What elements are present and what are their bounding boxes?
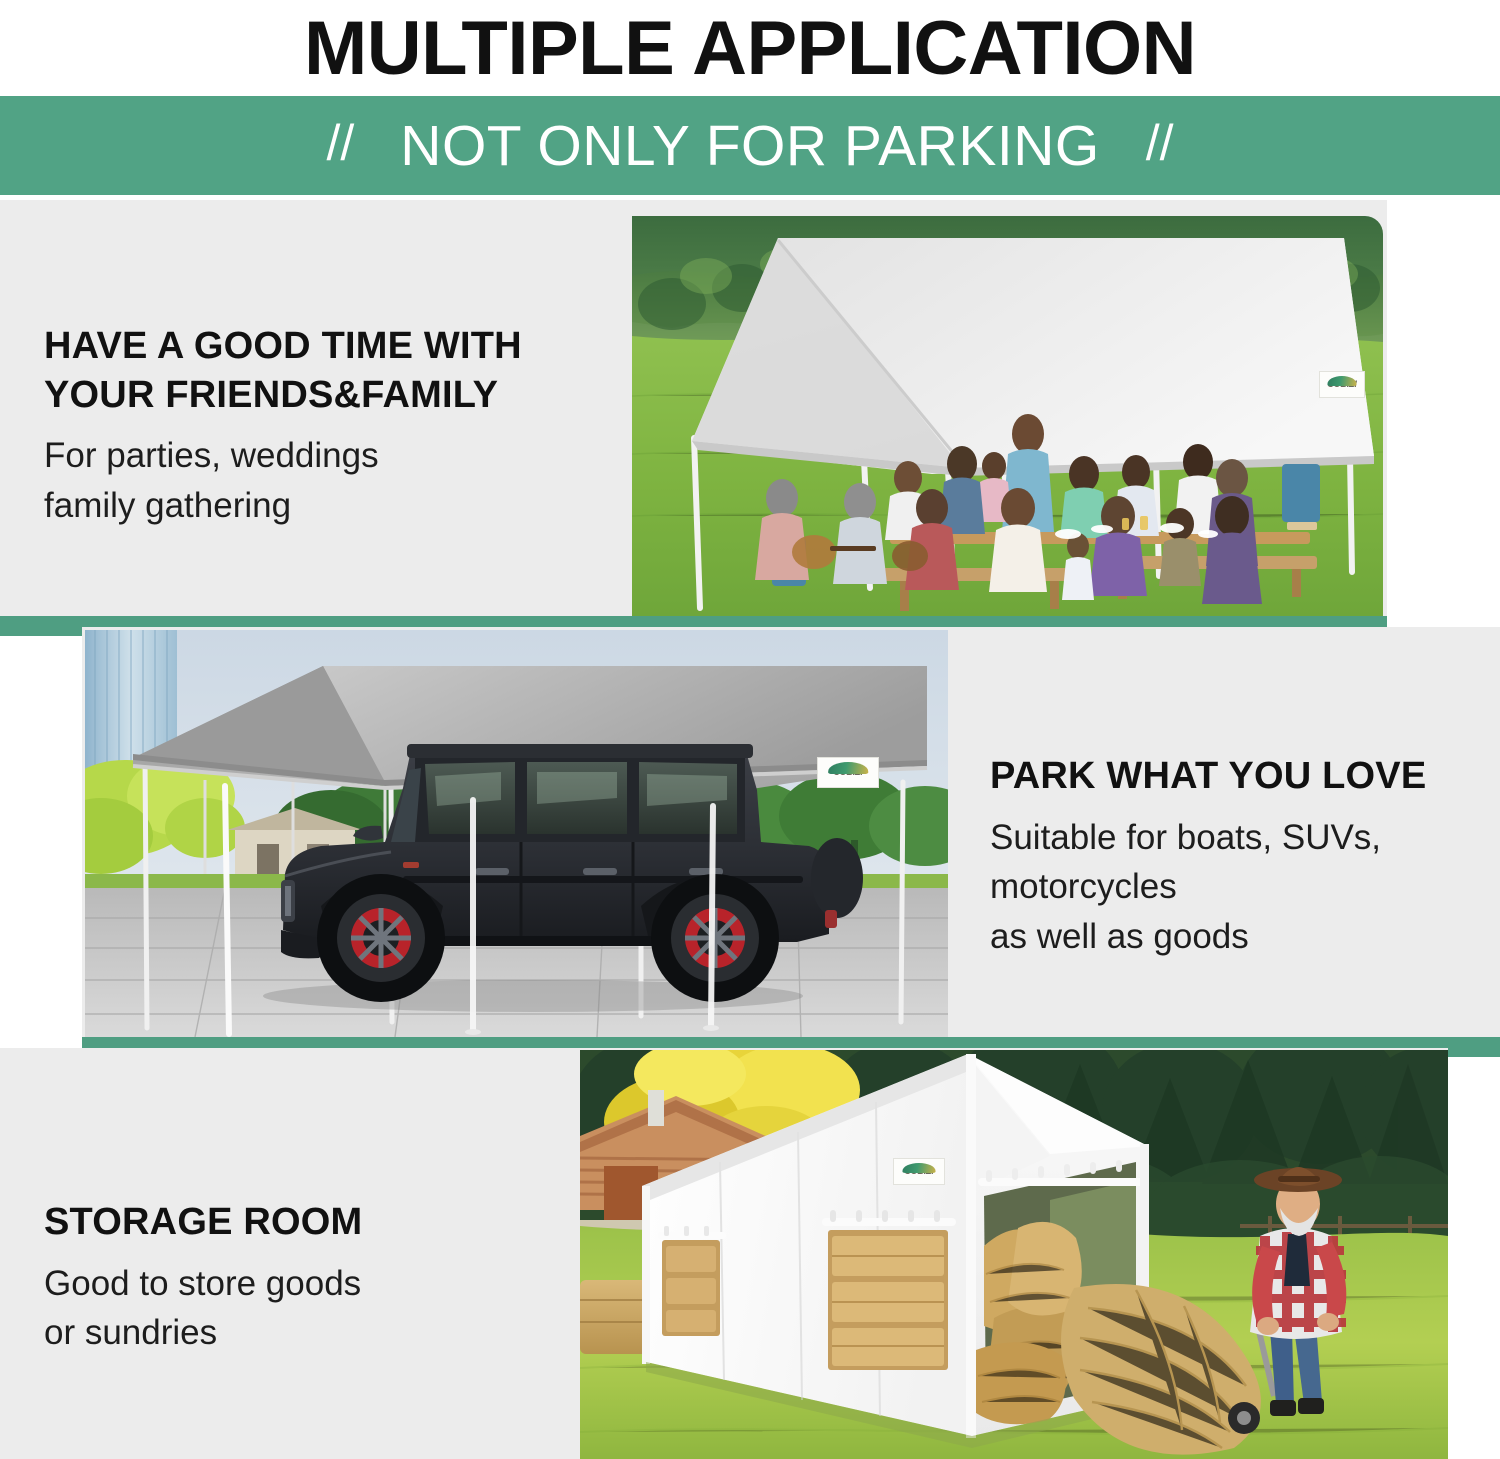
brand-logo-plate-panel-family: COBIZI (1319, 371, 1365, 398)
panel-storage-body: Good to store goods or sundries (44, 1259, 554, 1358)
brand-arc-icon (828, 762, 868, 774)
panel-parking-body-line3: as well as goods (990, 912, 1480, 962)
panel-family-heading-line1: HAVE A GOOD TIME WITH (44, 322, 614, 371)
panel-family-photo (632, 216, 1383, 616)
brand-logo-plate-panel-parking: COBIZI (817, 757, 879, 788)
panel-family-heading: HAVE A GOOD TIME WITH YOUR FRIENDS&FAMIL… (44, 322, 614, 419)
infographic-page: MULTIPLE APPLICATION // NOT ONLY FOR PAR… (0, 0, 1500, 1459)
panel-parking-body-line2: motorcycles (990, 862, 1480, 912)
panel-family-body-line2: family gathering (44, 481, 614, 531)
page-title: MULTIPLE APPLICATION (0, 0, 1500, 96)
brand-logo-plate-panel-storage: COBIZI (893, 1158, 945, 1185)
panel-parking-heading-line1: PARK WHAT YOU LOVE (990, 752, 1480, 801)
panel-family-body: For parties, weddings family gathering (44, 431, 614, 530)
slash-ornament-right: // (1146, 118, 1174, 168)
slash-ornament-left: // (327, 118, 355, 168)
panel-family-textblock: HAVE A GOOD TIME WITH YOUR FRIENDS&FAMIL… (44, 322, 614, 531)
subtitle-banner: // NOT ONLY FOR PARKING // (0, 96, 1500, 195)
brand-arc-icon (903, 1163, 936, 1174)
panel-storage-heading-line1: STORAGE ROOM (44, 1198, 554, 1247)
subtitle-text: NOT ONLY FOR PARKING (400, 113, 1099, 179)
panel-storage-heading: STORAGE ROOM (44, 1198, 554, 1247)
panel-parking-textblock: PARK WHAT YOU LOVE Suitable for boats, S… (990, 752, 1480, 962)
panel-parking-heading: PARK WHAT YOU LOVE (990, 752, 1480, 801)
panel-parking-photo (85, 630, 948, 1037)
panel-storage-body-line1: Good to store goods (44, 1259, 554, 1309)
panel-parking-body: Suitable for boats, SUVs, motorcycles as… (990, 813, 1480, 962)
panel-family-heading-line2: YOUR FRIENDS&FAMILY (44, 371, 614, 420)
brand-arc-icon (1327, 376, 1356, 387)
panel-storage-body-line2: or sundries (44, 1308, 554, 1358)
panel-family-body-line1: For parties, weddings (44, 431, 614, 481)
panel-parking-body-line1: Suitable for boats, SUVs, (990, 813, 1480, 863)
panel-storage-photo (580, 1050, 1448, 1459)
panel-storage-textblock: STORAGE ROOM Good to store goods or sund… (44, 1198, 554, 1358)
